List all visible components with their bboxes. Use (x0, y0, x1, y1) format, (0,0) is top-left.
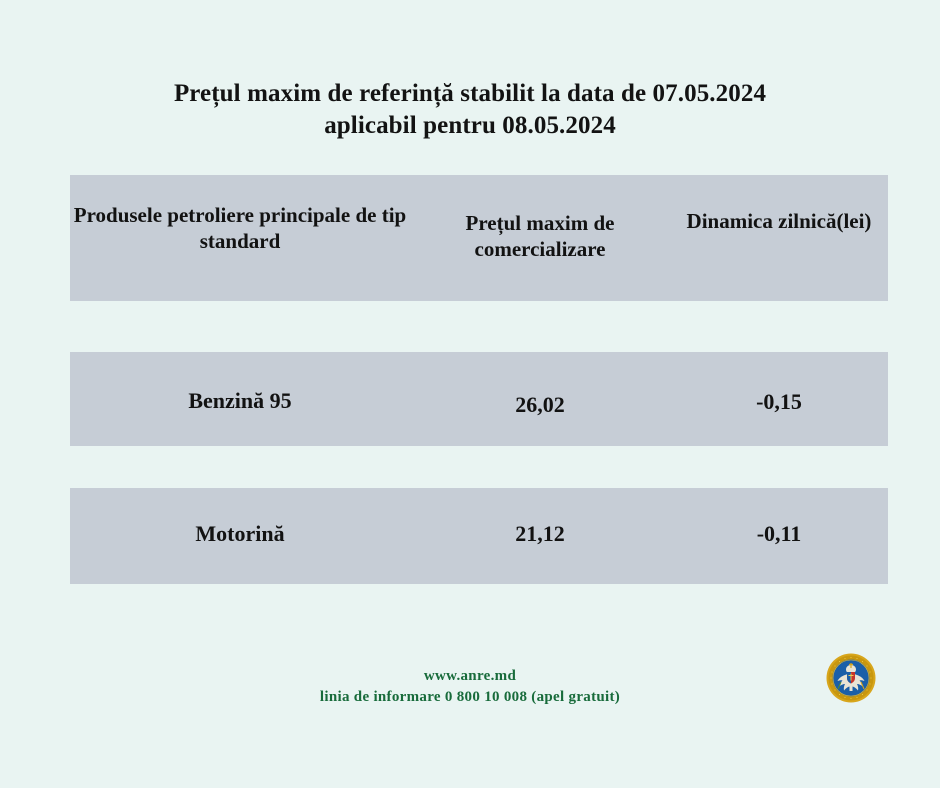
table-row: Benzină 95 26,02 -0,15 (70, 352, 888, 446)
footer: www.anre.md linia de informare 0 800 10 … (0, 666, 940, 708)
title-line-2: aplicabil pentru 08.05.2024 (0, 110, 940, 142)
price-announcement-page: Prețul maxim de referință stabilit la da… (0, 0, 940, 788)
cell-product-name: Motorină (70, 521, 410, 547)
page-title: Prețul maxim de referință stabilit la da… (0, 78, 940, 142)
cell-price-value: 26,02 (410, 392, 670, 418)
table-row: Motorină 21,12 -0,11 (70, 488, 888, 584)
table-header-row: Produsele petroliere principale de tip s… (70, 175, 888, 301)
cell-dynamics-value: -0,11 (670, 521, 888, 547)
cell-product-name: Benzină 95 (70, 388, 410, 414)
footer-website: www.anre.md (0, 666, 940, 687)
footer-infoline: linia de informare 0 800 10 008 (apel gr… (0, 687, 940, 708)
column-header-dynamics: Dinamica zilnică(lei) (670, 208, 888, 234)
anre-emblem-icon (826, 653, 876, 703)
cell-price-value: 21,12 (410, 521, 670, 547)
column-header-price: Prețul maxim de comercializare (410, 210, 670, 262)
title-line-1: Prețul maxim de referință stabilit la da… (0, 78, 940, 110)
cell-dynamics-value: -0,15 (670, 389, 888, 415)
column-header-product: Produsele petroliere principale de tip s… (70, 202, 410, 254)
